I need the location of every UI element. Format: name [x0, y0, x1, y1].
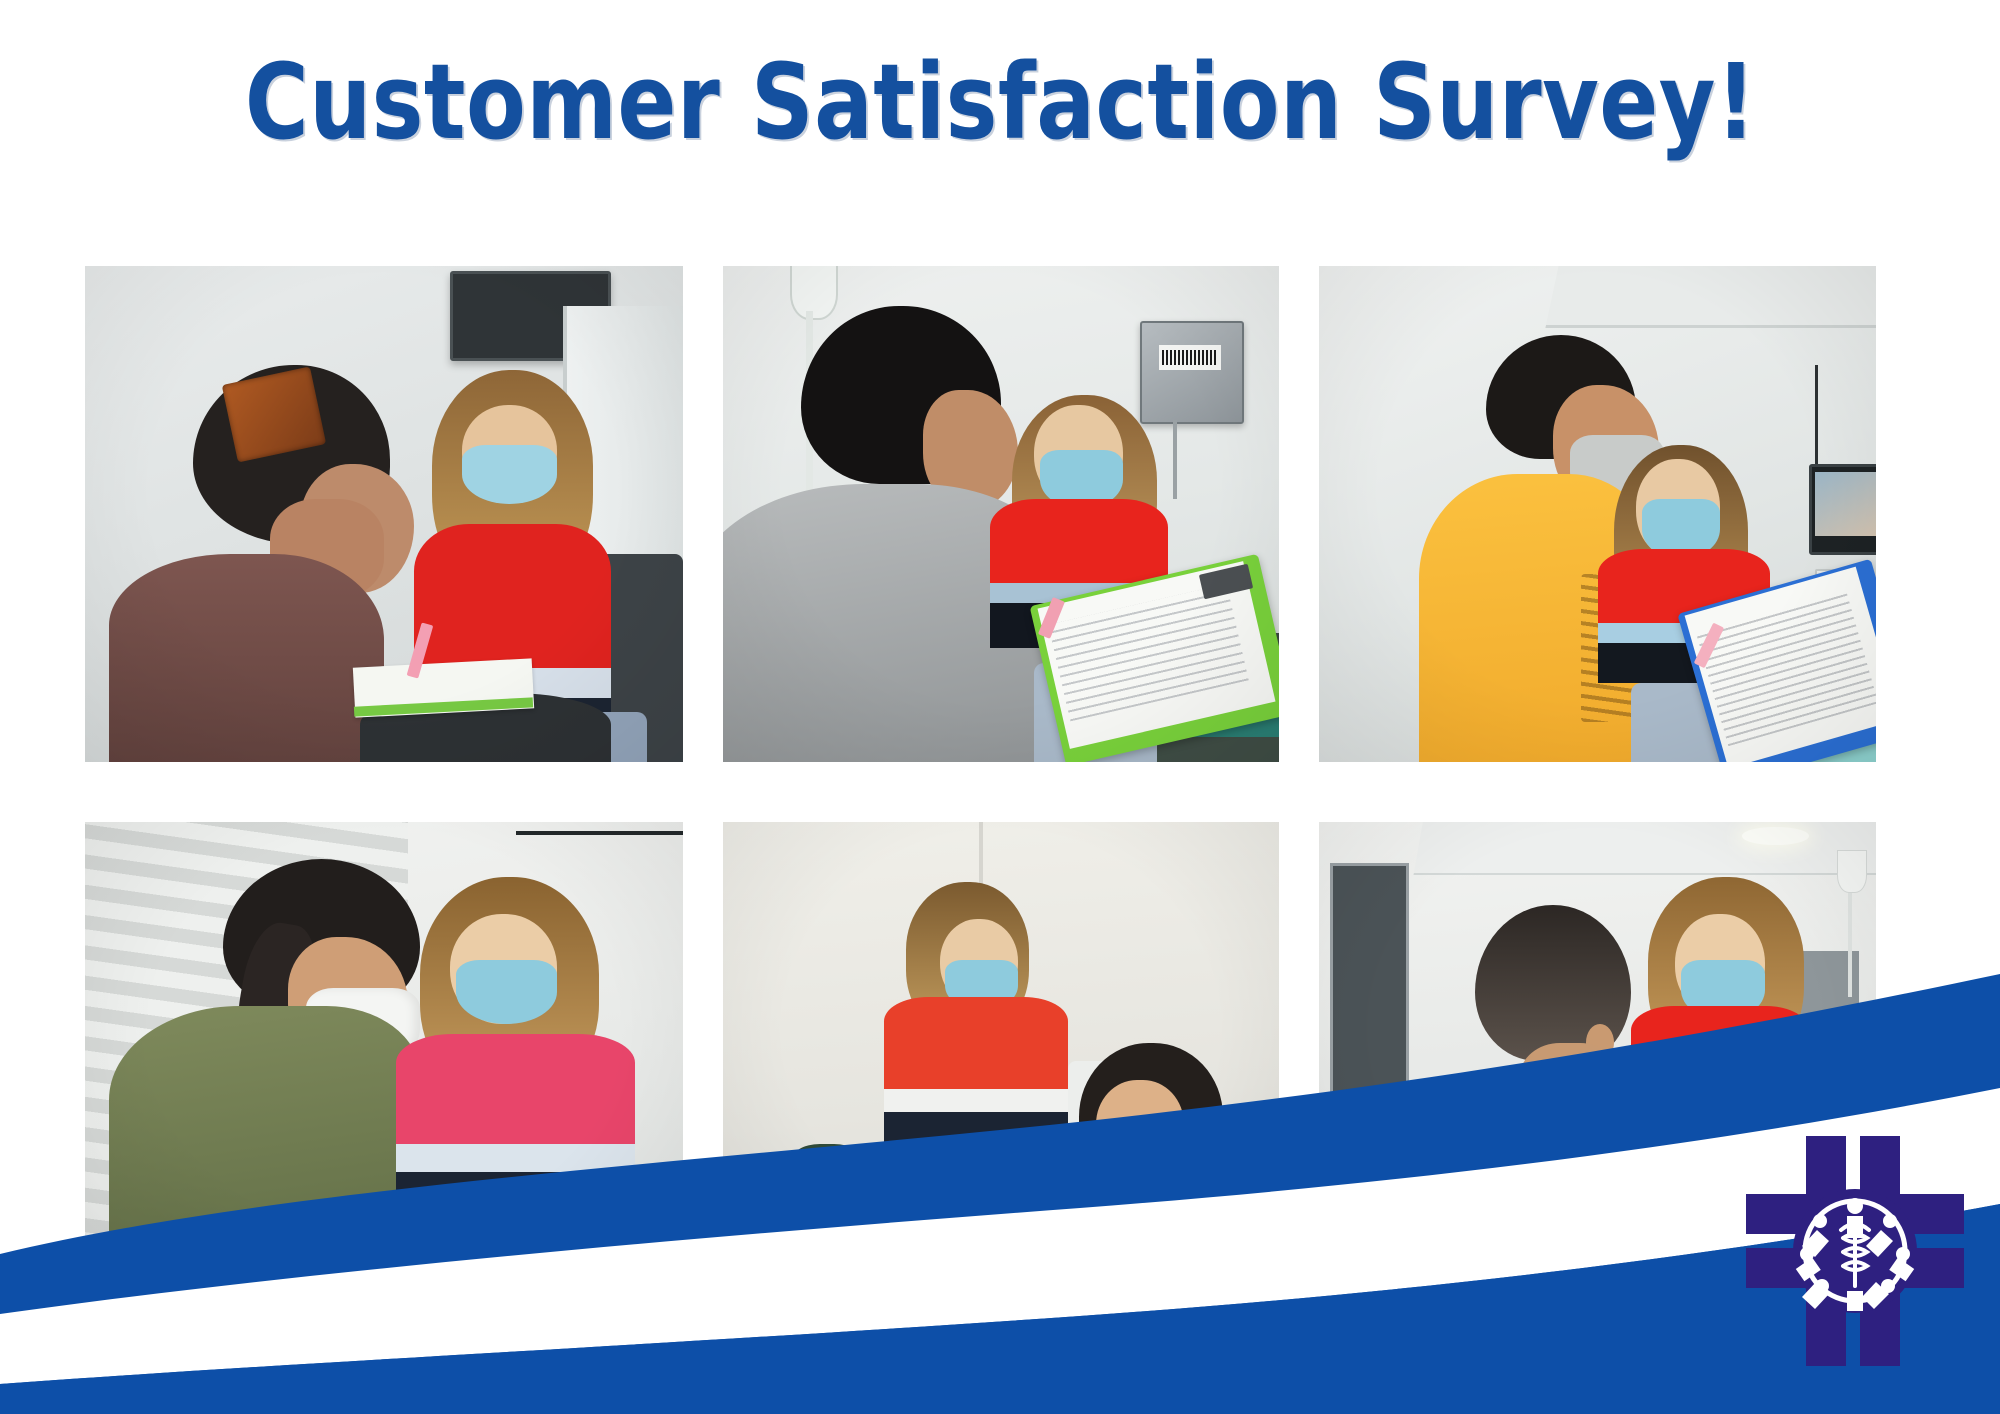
panel-cable [1173, 420, 1176, 499]
patient-pink-shirt [1397, 1089, 1653, 1282]
gallery-photo-top-right: Male patient in a yellow shirt standing … [1319, 266, 1876, 762]
photo-gallery-grid: Female patient with hair clip seated at … [85, 266, 1875, 1282]
poster-canvas: Customer Satisfaction Survey! [0, 0, 2000, 1414]
photo-scene [723, 266, 1279, 762]
gallery-photo-top-left: Female patient with hair clip seated at … [85, 266, 683, 762]
page-title-container: Customer Satisfaction Survey! [0, 48, 2000, 157]
wall-electrical-panel [1140, 321, 1244, 424]
gallery-photo-bottom-left: Woman in an olive jacket and white respi… [85, 822, 683, 1282]
patient-olive-jacket [109, 1006, 420, 1282]
green-handbag [779, 1153, 868, 1263]
gallery-photo-top-center: Male patient in a grey shirt facing away… [723, 266, 1279, 762]
ceiling-light [1742, 827, 1809, 845]
cross-emblem-circle [1793, 1189, 1917, 1313]
photo-scene [1319, 266, 1876, 762]
page-title: Customer Satisfaction Survey! [244, 48, 1755, 157]
tv-screen-image [1815, 472, 1876, 536]
hospital-cross-emblem-icon [1740, 1126, 1970, 1376]
photo-scene [723, 822, 1279, 1282]
wall-poster [1820, 1015, 1872, 1068]
ceiling-cable [516, 831, 683, 872]
tv-cable [1815, 365, 1818, 474]
corridor-doorway [1330, 863, 1408, 1182]
ceiling-panel [1414, 822, 1876, 875]
wall-notice [1820, 1070, 1872, 1113]
photo-scene [85, 266, 683, 762]
gallery-photo-bottom-center: Standing staff member in a red polo poin… [723, 822, 1279, 1282]
photo-scene [85, 822, 683, 1282]
iv-fluid-bag [790, 266, 838, 320]
staff-polo-pink-band [396, 1034, 635, 1154]
patient-torso [109, 554, 384, 762]
barcode-sticker [1162, 350, 1218, 365]
staff-face-mask [462, 445, 558, 505]
ceiling-panel [1545, 266, 1876, 329]
staff-polo-red-band [884, 997, 1067, 1098]
staff-polo-red-band [1631, 1006, 1809, 1107]
iv-fluid-bag [1837, 850, 1867, 893]
